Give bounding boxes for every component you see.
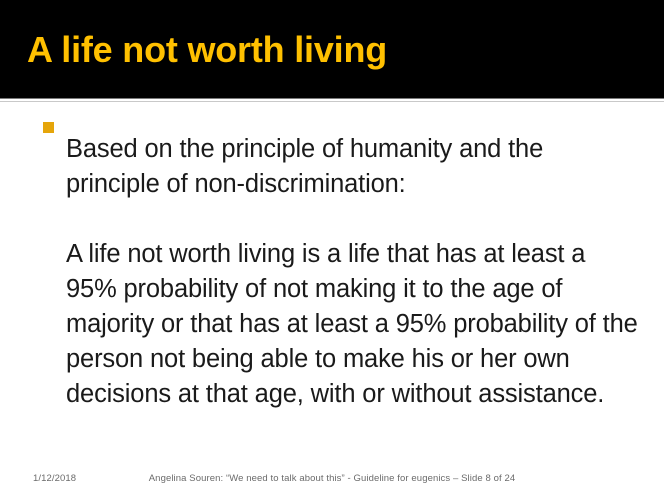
slide-body: Based on the principle of humanity and t… bbox=[0, 106, 664, 458]
square-bullet-icon bbox=[43, 122, 54, 133]
list-item: Based on the principle of humanity and t… bbox=[0, 106, 664, 202]
title-banner: A life not worth living bbox=[0, 0, 664, 98]
bullet-text: Based on the principle of humanity and t… bbox=[66, 106, 632, 202]
footer-credit: Angelina Souren: “We need to talk about … bbox=[0, 473, 664, 484]
page-title: A life not worth living bbox=[27, 30, 387, 70]
slide: A life not worth living Based on the pri… bbox=[0, 0, 664, 498]
body-paragraph: A life not worth living is a life that h… bbox=[0, 202, 664, 412]
banner-divider-secondary bbox=[0, 101, 664, 102]
slide-footer: 1/12/2018 Angelina Souren: “We need to t… bbox=[0, 470, 664, 494]
banner-divider bbox=[0, 98, 664, 99]
